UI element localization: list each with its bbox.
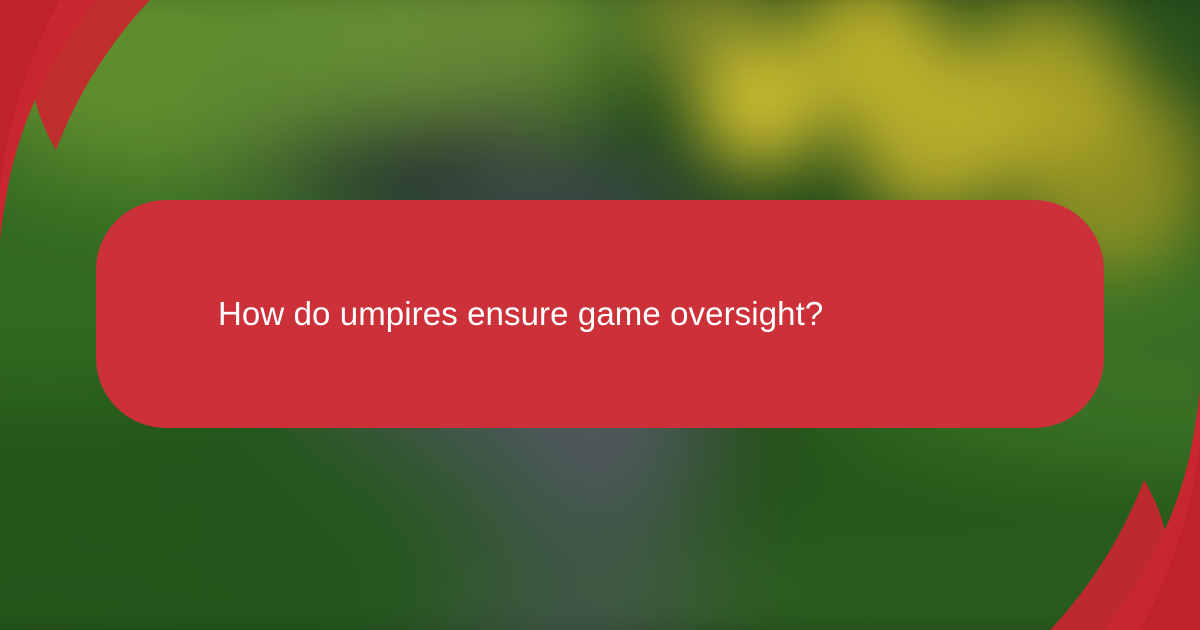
page-title: How do umpires ensure game oversight? [218, 293, 823, 336]
banner-image: How do umpires ensure game oversight? [0, 0, 1200, 630]
headline-card: How do umpires ensure game oversight? [96, 200, 1104, 428]
